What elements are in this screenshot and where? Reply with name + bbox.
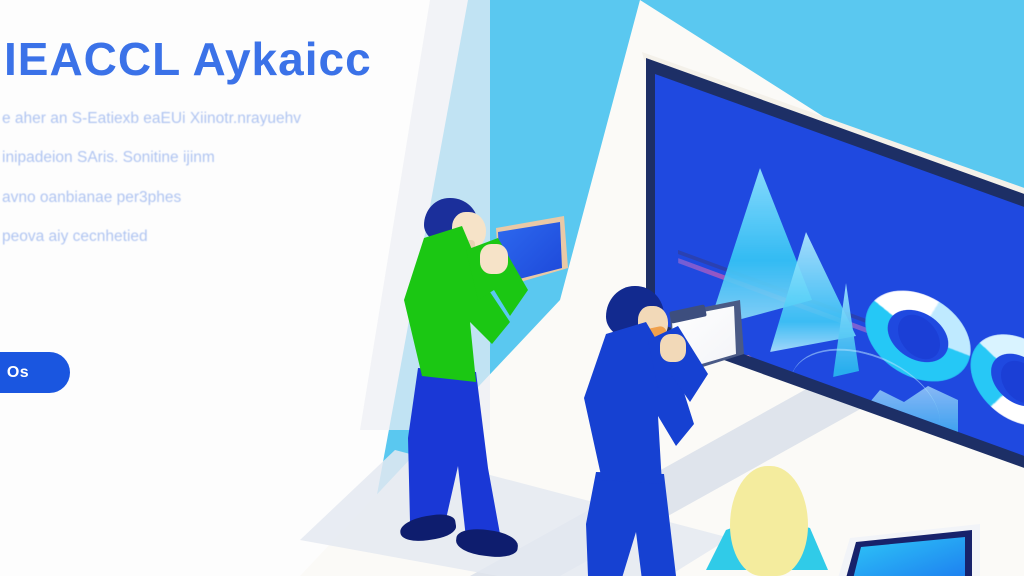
- hero-body-line: peova aiy cecnhetied: [2, 229, 400, 245]
- cta-button[interactable]: Os: [0, 352, 70, 393]
- person-blonde-hair: [730, 466, 808, 576]
- page-title: IEACCL Aykaicc: [0, 34, 400, 85]
- hero-body-line: avno oanbianae per3phes: [2, 190, 400, 206]
- person-green-shirt-hand: [480, 244, 508, 274]
- illustration-canvas: IEACCL Aykaicc e aher an S-Eatiexb eaÉUi…: [0, 0, 1024, 576]
- hero-body-line: e aher an S-Eatiexb eaÉUi Xiinotr.nrayue…: [2, 111, 400, 127]
- person-blue-suit-hand: [660, 334, 686, 362]
- hero-body-line: inipadeion SAris. Sonitine ijinm: [2, 150, 400, 166]
- hero-copy: IEACCL Aykaicc e aher an S-Eatiexb eaÉUi…: [0, 34, 400, 269]
- hero-body-text: e aher an S-Eatiexb eaÉUi Xiinotr.nrayue…: [0, 111, 400, 245]
